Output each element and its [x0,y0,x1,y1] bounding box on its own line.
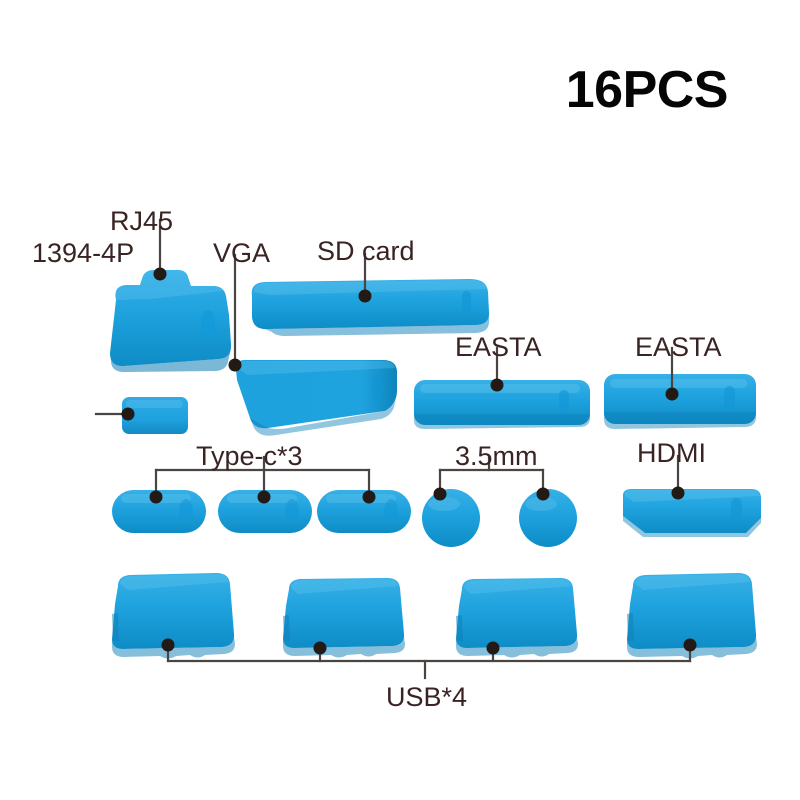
label-usb: USB*4 [386,684,467,711]
leader-dot-rj45 [154,268,167,281]
leader-dot-usb-3 [487,642,500,655]
product-image-canvas: 16PCS 1394-4P RJ45 VGA SD card EASTA EAS… [0,0,800,800]
label-vga: VGA [213,240,270,267]
leader-dot-sd-card [359,290,372,303]
label-1394-4p: 1394-4P [32,240,134,267]
leader-dot-easta-2 [666,388,679,401]
leader-dot-3-5mm-2 [537,488,550,501]
leader-dot-usb-1 [162,639,175,652]
leader-dot-usb-4 [684,639,697,652]
label-hdmi: HDMI [637,440,706,467]
leader-dot-usb-2 [314,642,327,655]
leader-dot-easta-1 [491,379,504,392]
label-type-c: Type-c*3 [196,443,303,470]
label-rj45: RJ45 [110,208,173,235]
leader-dot-type-c-2 [258,491,271,504]
count-badge: 16PCS [566,64,728,116]
leader-dot-vga [229,359,242,372]
bracket-usb [168,645,690,678]
label-easta-2: EASTA [635,334,722,361]
leader-dot-type-c-3 [363,491,376,504]
label-easta-1: EASTA [455,334,542,361]
leader-lines-layer [0,0,800,800]
leader-dot-type-c-1 [150,491,163,504]
leader-dot-hdmi [672,487,685,500]
leader-dot-3-5mm-1 [434,488,447,501]
label-3-5mm: 3.5mm [455,443,538,470]
label-sd-card: SD card [317,238,415,265]
leader-dot-1394-4p [122,408,135,421]
